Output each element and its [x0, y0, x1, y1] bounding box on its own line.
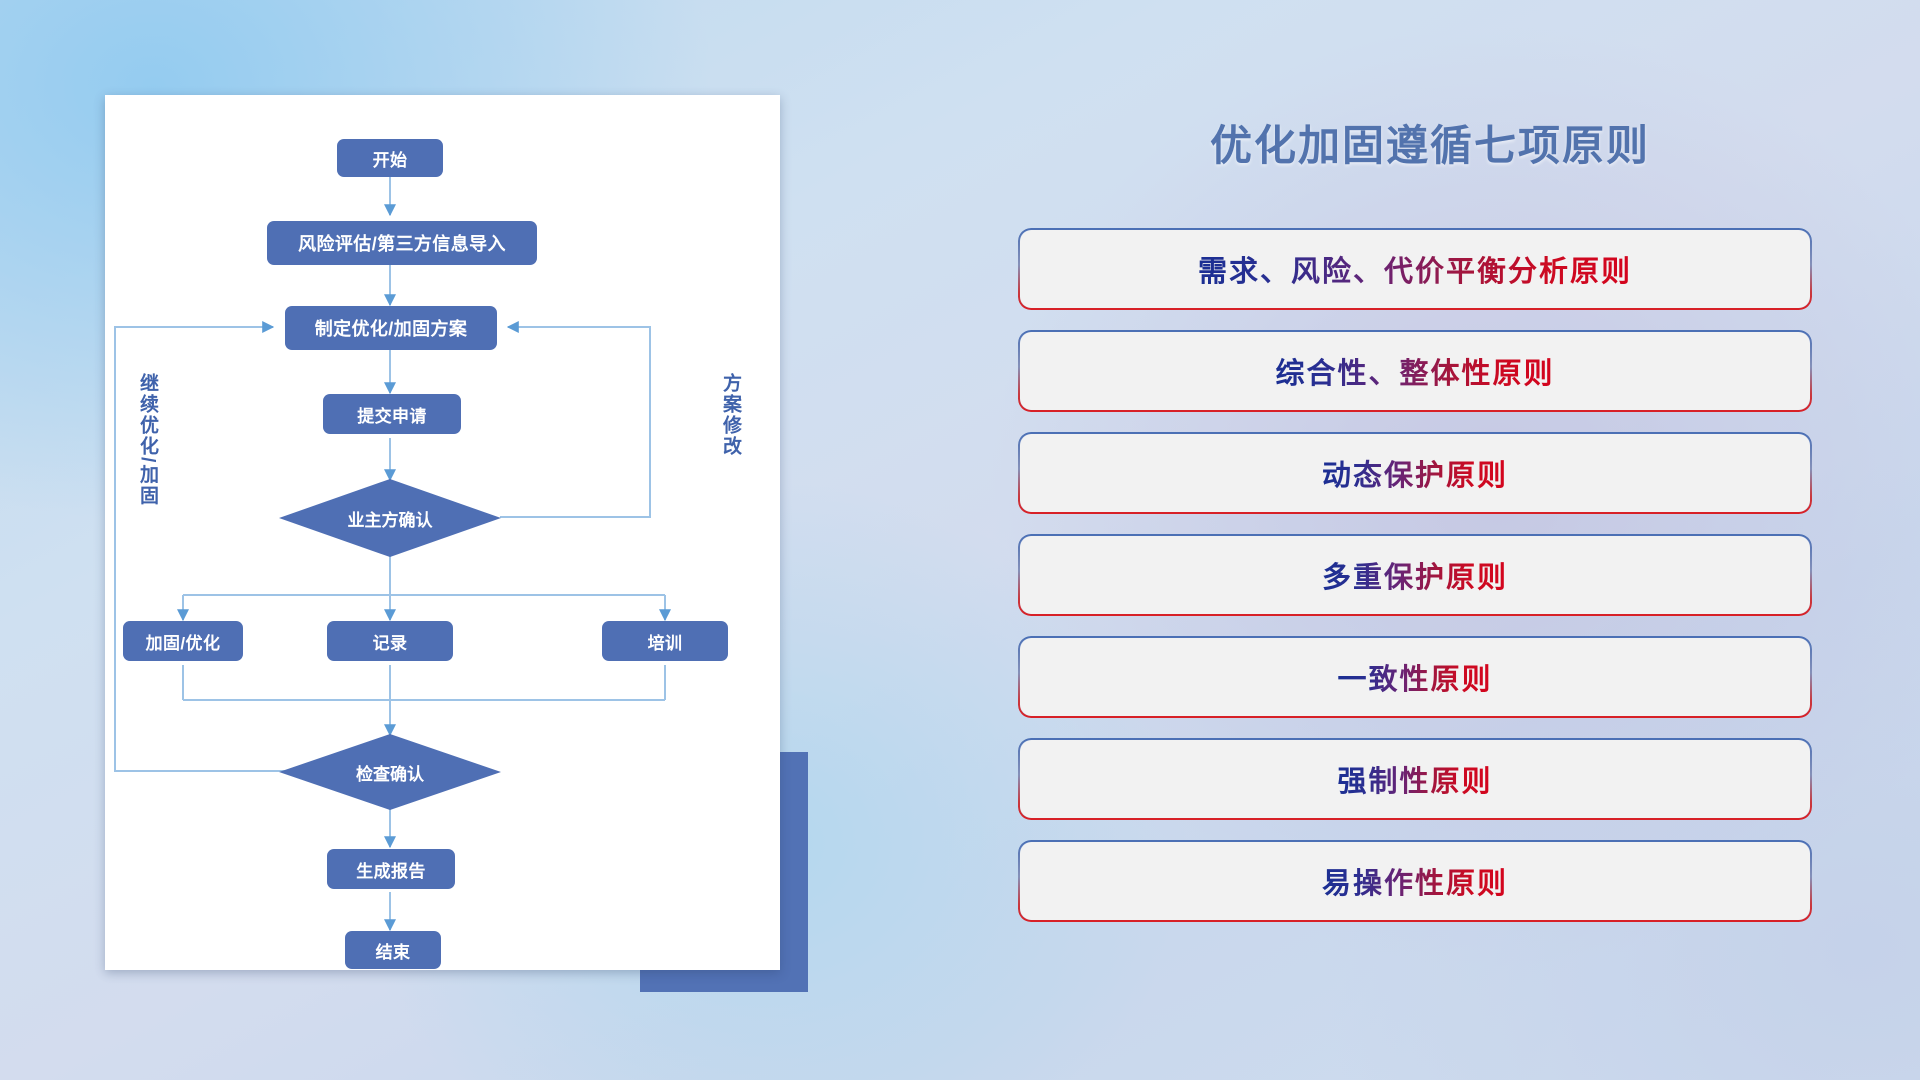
flow-node-start[interactable]: 开始: [337, 139, 443, 177]
flow-node-reinforce-optimize[interactable]: 加固/优化: [123, 621, 243, 661]
principle-card-label: 易操作性原则: [1322, 860, 1508, 902]
flow-node-end[interactable]: 结束: [345, 931, 441, 969]
flow-edge-label-continue-optimize-text: 继续优化/加固: [137, 373, 158, 506]
principle-card-label: 多重保护原则: [1322, 554, 1508, 596]
flow-node-end-label: 结束: [376, 938, 411, 963]
flow-node-generate-report[interactable]: 生成报告: [327, 849, 455, 889]
flow-node-start-label: 开始: [373, 146, 408, 171]
principle-card[interactable]: 需求、风险、代价平衡分析原则: [1020, 230, 1810, 308]
flow-edge-label-plan-revision: 方案修改: [717, 373, 744, 457]
flowchart-card: 开始 风险评估/第三方信息导入 制定优化/加固方案 提交申请 业主方确认 加固/…: [105, 95, 780, 970]
page-title: 优化加固遵循七项原则: [1020, 112, 1840, 173]
principle-card-label: 综合性、整体性原则: [1275, 350, 1554, 392]
principle-card-label: 动态保护原则: [1322, 452, 1508, 494]
principle-card[interactable]: 多重保护原则: [1020, 536, 1810, 614]
flow-node-training-label: 培训: [648, 629, 683, 654]
principle-card[interactable]: 一致性原则: [1020, 638, 1810, 716]
flow-node-record-label: 记录: [373, 629, 408, 654]
flow-node-make-plan-label: 制定优化/加固方案: [315, 315, 468, 341]
principle-card[interactable]: 动态保护原则: [1020, 434, 1810, 512]
principle-card-label: 需求、风险、代价平衡分析原则: [1198, 248, 1632, 290]
principle-card[interactable]: 强制性原则: [1020, 740, 1810, 818]
flow-node-owner-confirm-label: 业主方确认: [348, 506, 433, 531]
flow-node-check-confirm-label: 检查确认: [356, 760, 424, 785]
principle-card-label: 强制性原则: [1337, 758, 1492, 800]
flow-edge-label-continue-optimize: 继续优化/加固: [134, 373, 161, 506]
flow-node-reinforce-optimize-label: 加固/优化: [146, 629, 221, 654]
flow-node-risk-assessment[interactable]: 风险评估/第三方信息导入: [267, 221, 537, 265]
principle-card[interactable]: 易操作性原则: [1020, 842, 1810, 920]
flow-node-record[interactable]: 记录: [327, 621, 453, 661]
flow-node-submit-application-label: 提交申请: [357, 402, 427, 427]
flow-edge-label-plan-revision-text: 方案修改: [720, 373, 741, 457]
flow-node-submit-application[interactable]: 提交申请: [323, 394, 461, 434]
flow-node-risk-assessment-label: 风险评估/第三方信息导入: [298, 230, 506, 256]
principle-card[interactable]: 综合性、整体性原则: [1020, 332, 1810, 410]
flow-node-training[interactable]: 培训: [602, 621, 728, 661]
flow-node-make-plan[interactable]: 制定优化/加固方案: [285, 306, 497, 350]
flow-node-generate-report-label: 生成报告: [356, 857, 426, 882]
principles-panel: 优化加固遵循七项原则 需求、风险、代价平衡分析原则 综合性、整体性原则 动态保护…: [1020, 0, 1920, 1080]
principle-card-list: 需求、风险、代价平衡分析原则 综合性、整体性原则 动态保护原则 多重保护原则 一…: [1020, 230, 1810, 944]
principle-card-label: 一致性原则: [1337, 656, 1492, 698]
